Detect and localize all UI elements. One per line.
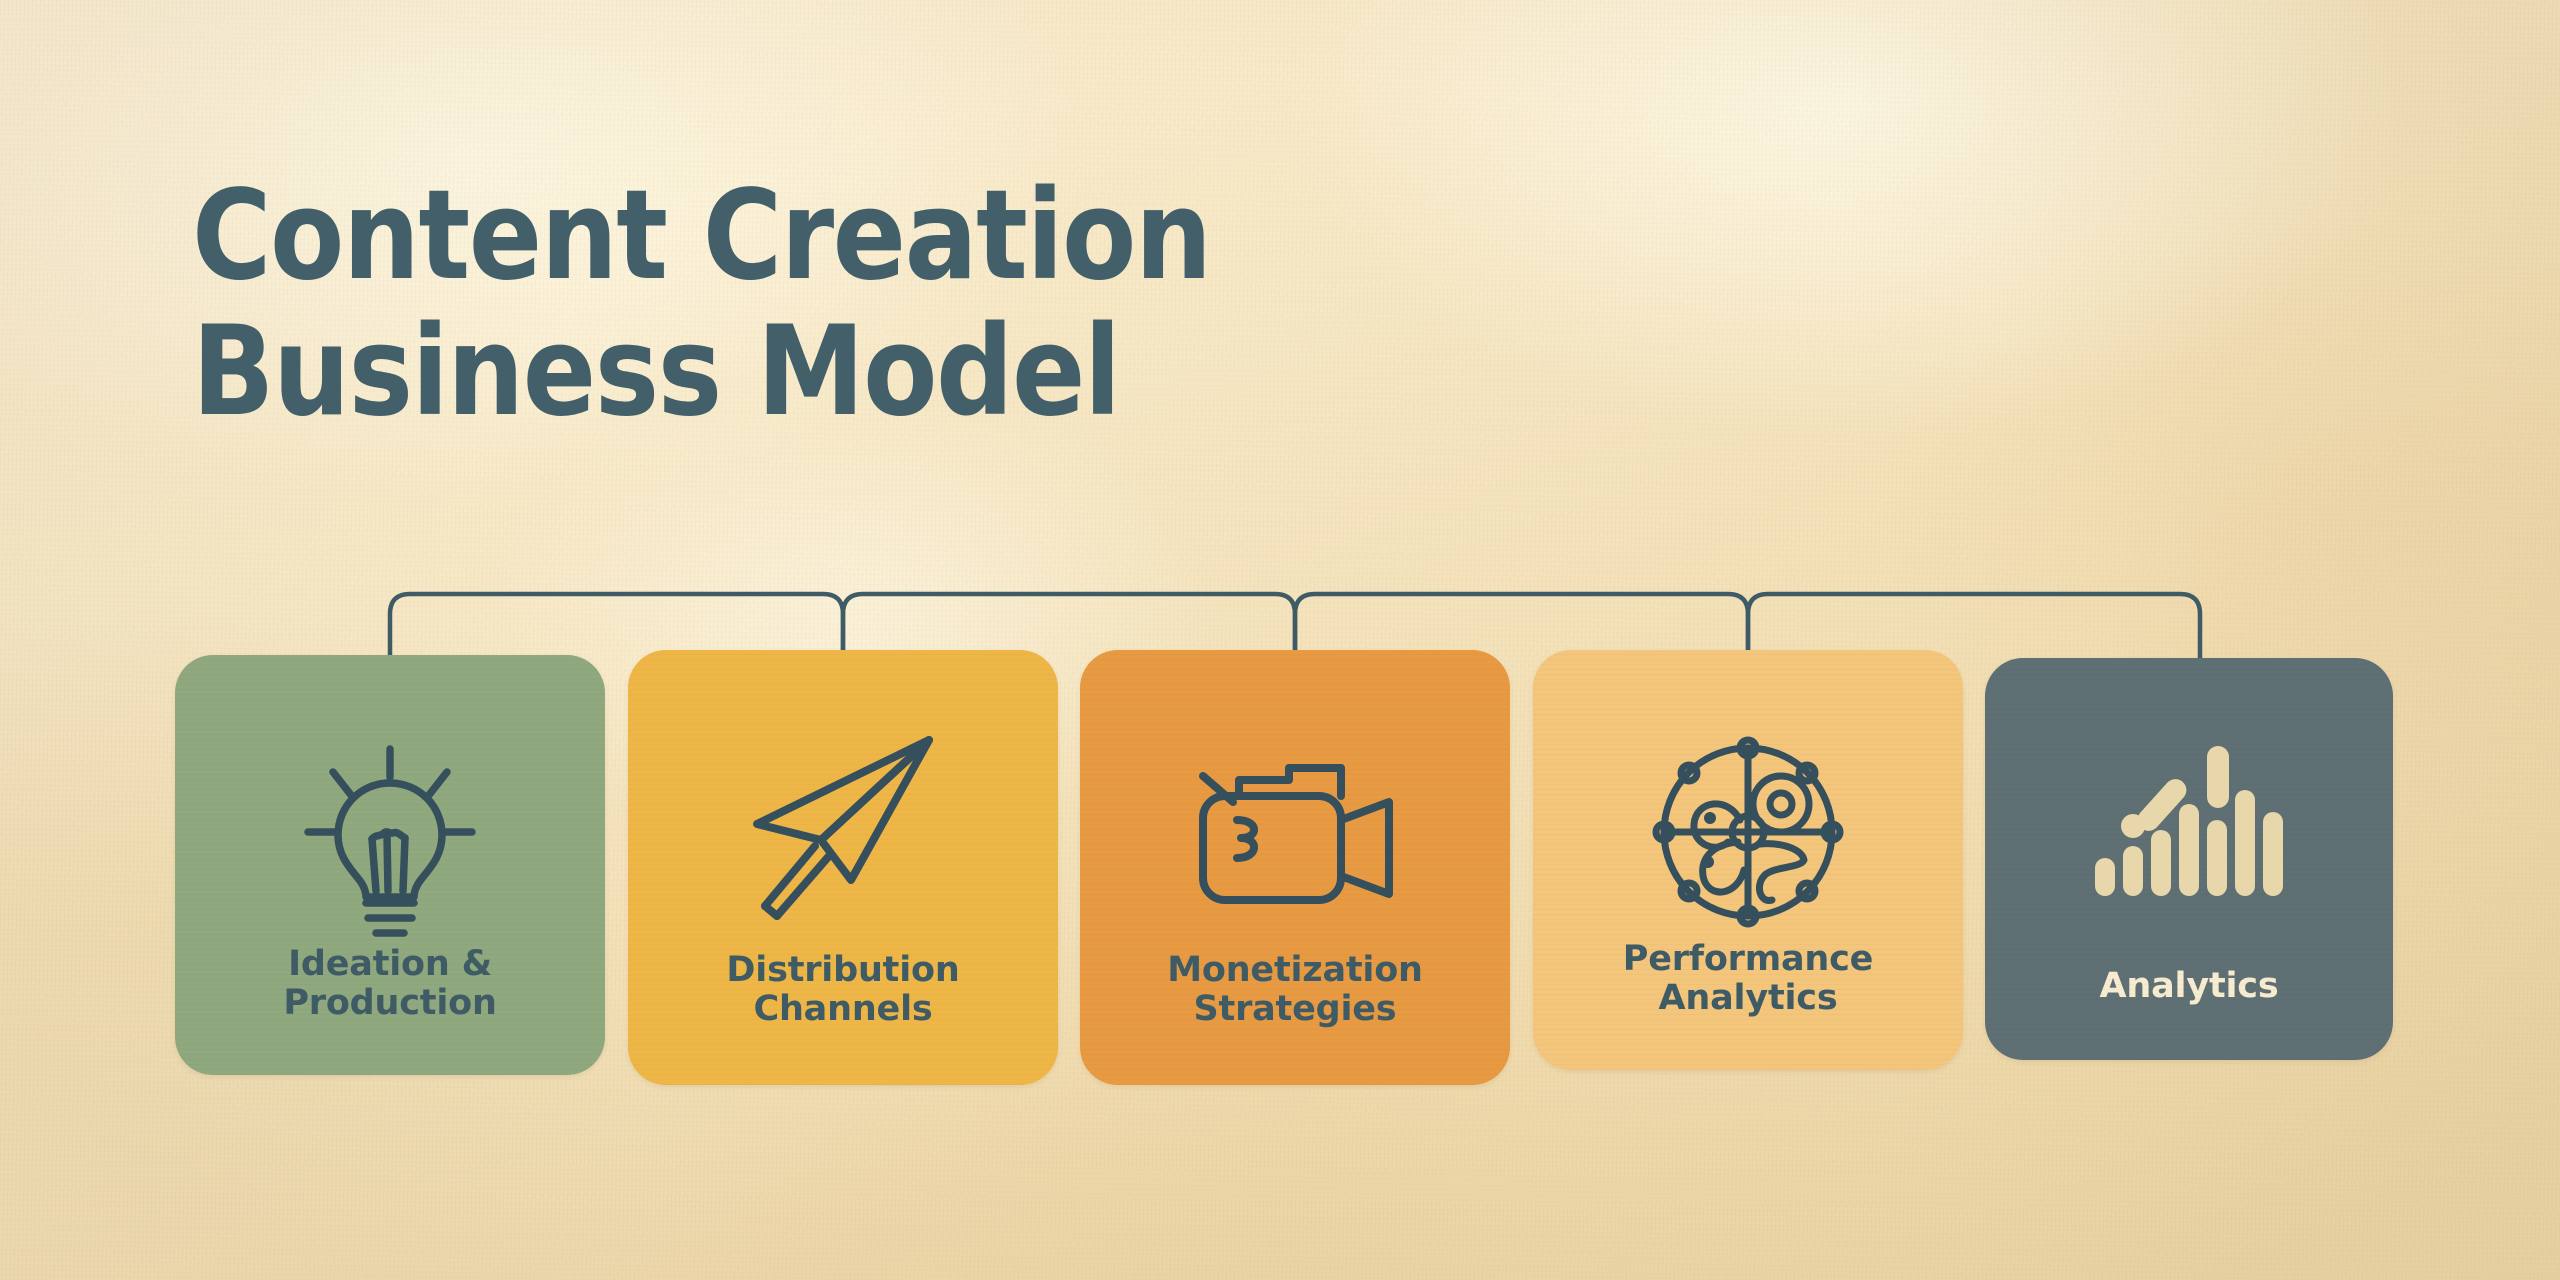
page-title-line-2: Business Model <box>192 324 1647 420</box>
paper-plane-icon <box>628 730 1058 920</box>
stage-card-analytics[interactable]: Analytics <box>1985 658 2393 1060</box>
video-camera-icon <box>1080 758 1510 908</box>
page-title: Content Creation Business Model <box>192 188 1692 420</box>
lightbulb-icon <box>175 743 605 939</box>
analytics-wheel-icon <box>1533 734 1963 930</box>
stage-card-monetization-strategies[interactable]: Monetization Strategies <box>1080 650 1510 1085</box>
stage-card-performance-analytics[interactable]: Performance Analytics <box>1533 650 1963 1070</box>
page-title-line-1: Content Creation <box>192 188 1647 284</box>
stage-card-distribution-channels[interactable]: Distribution Channels <box>628 650 1058 1085</box>
infographic-canvas: Content Creation Business Model <box>0 0 2560 1280</box>
stage-card-ideation-production[interactable]: Ideation & Production <box>175 655 605 1075</box>
bar-chart-icon <box>1985 746 2393 896</box>
